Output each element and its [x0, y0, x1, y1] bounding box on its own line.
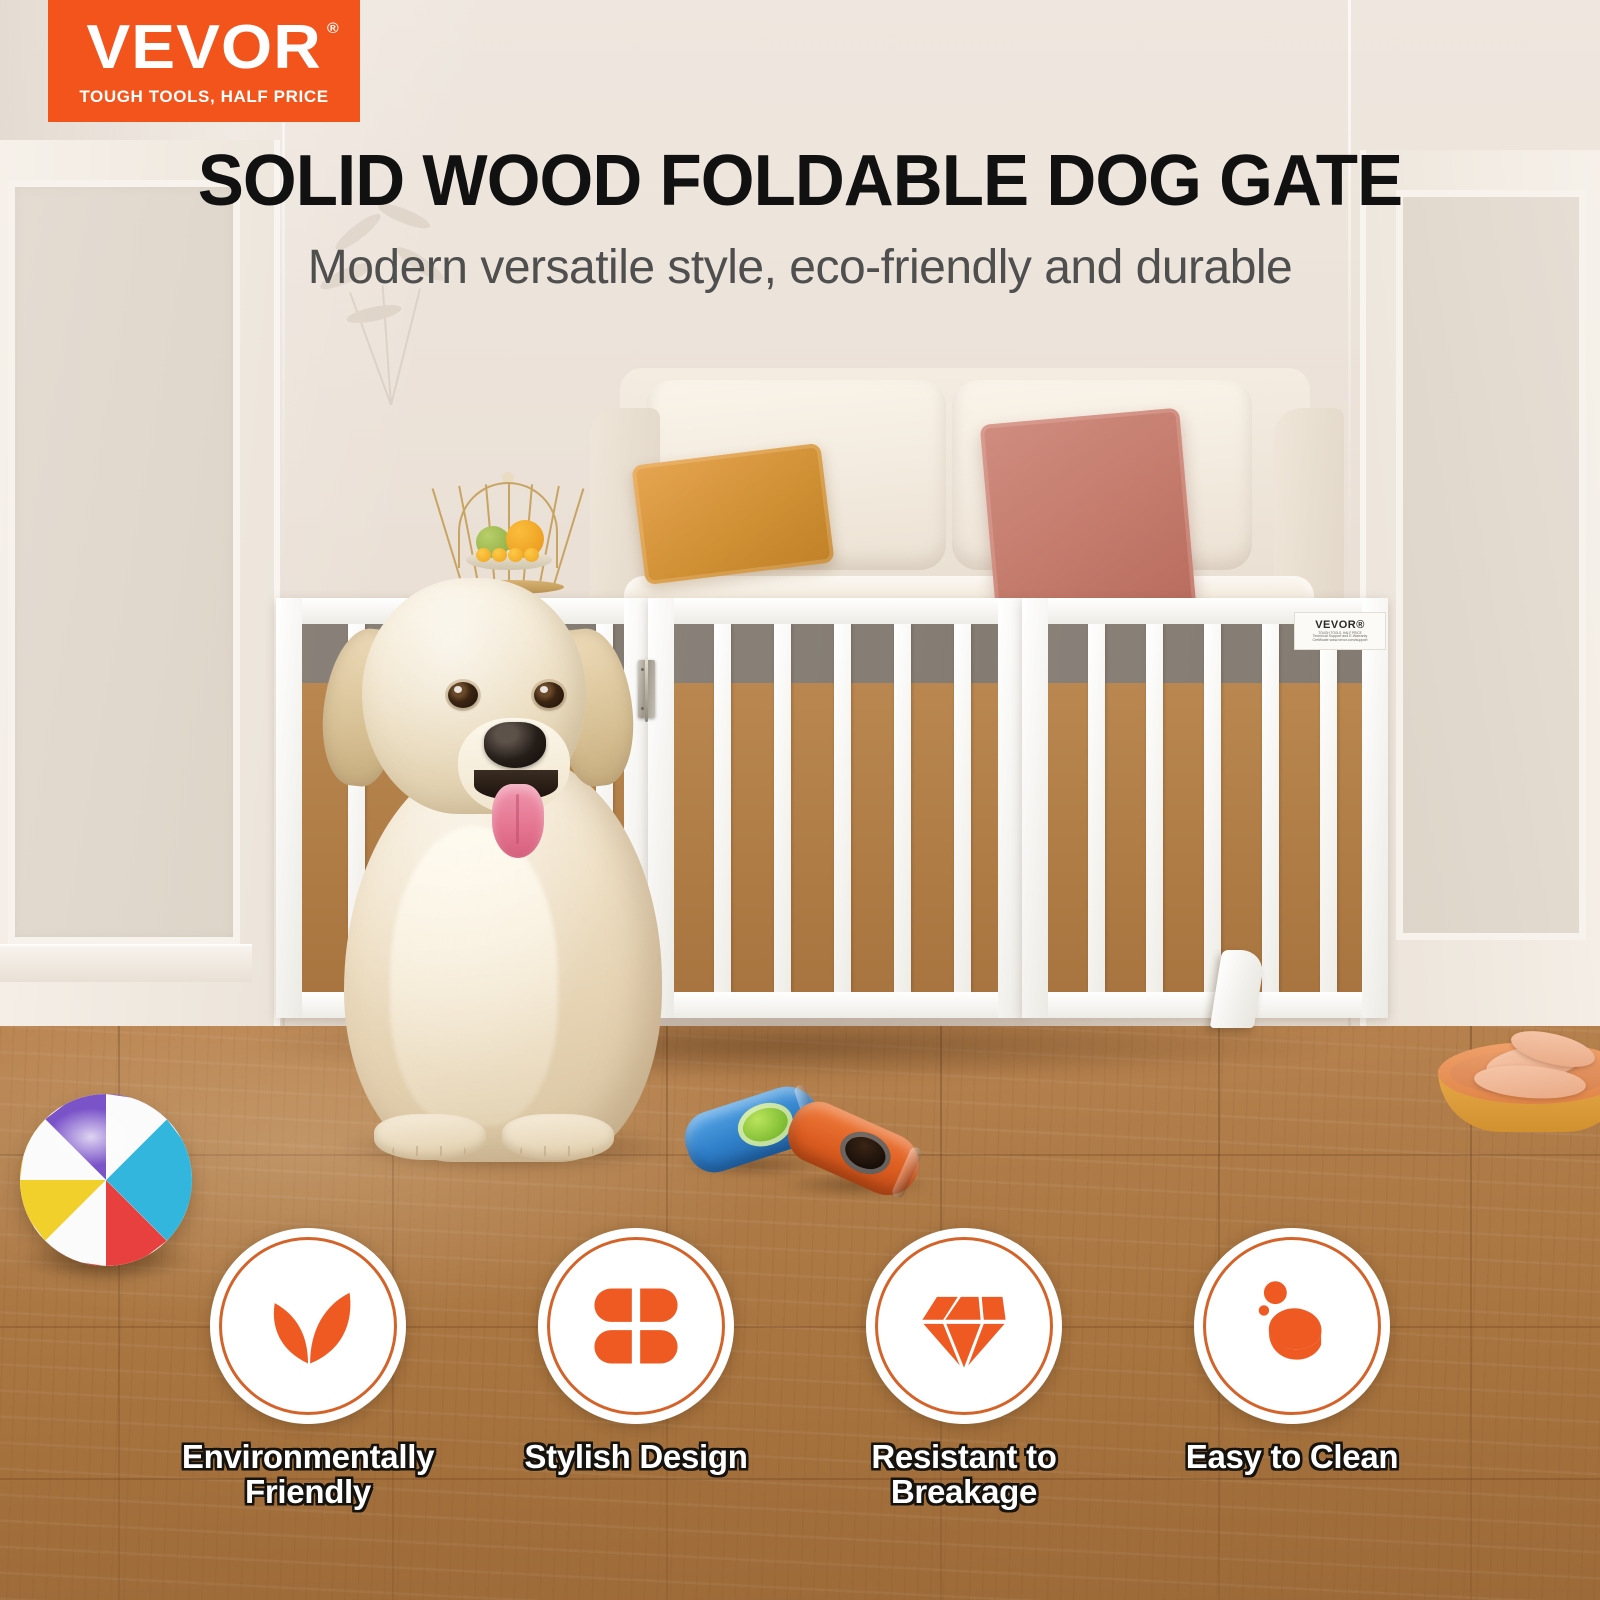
- dog-tongue: [492, 784, 544, 858]
- dog-front-paw: [502, 1114, 614, 1160]
- feature-badge-circle: [538, 1228, 734, 1424]
- kumquat: [492, 548, 507, 562]
- rose-throw-pillow: [980, 408, 1197, 625]
- feature-label: Stylish Design: [524, 1440, 747, 1475]
- dog-nose: [484, 722, 546, 768]
- diamond-icon: [912, 1274, 1016, 1378]
- gate-panel-opening: [674, 624, 998, 992]
- product-label-sticker: VEVOR® TOUGH TOOLS, HALF PRICE Technical…: [1294, 612, 1386, 650]
- product-banner: VEVOR® TOUGH TOOLS, HALF PRICE Technical…: [0, 0, 1600, 1600]
- brand-wordmark: VEVOR ®: [86, 17, 321, 79]
- gate-panel-opening: [1048, 624, 1362, 992]
- dog-eye-left: [448, 682, 478, 708]
- door-rail: [0, 944, 252, 982]
- kumquat: [508, 548, 523, 562]
- amber-throw-pillow: [631, 443, 834, 585]
- feature-label: Easy to Clean: [1186, 1440, 1399, 1475]
- brand-name: VEVOR: [86, 13, 321, 82]
- dog-head: [362, 578, 586, 814]
- feature-environmentally-friendly[interactable]: Environmentally Friendly: [183, 1228, 433, 1600]
- sticker-line-2: Certificate www.vevor.com/support: [1312, 639, 1367, 643]
- page-title: SOLID WOOD FOLDABLE DOG GATE: [32, 140, 1568, 222]
- feature-badge-circle: [866, 1228, 1062, 1424]
- feature-easy-to-clean[interactable]: Easy to Clean: [1167, 1228, 1417, 1600]
- clover-icon: [584, 1274, 688, 1378]
- golden-retriever-dog: [318, 566, 698, 1166]
- feature-badge-row: Environmentally Friendly Stylish Design: [0, 1228, 1600, 1600]
- plant-silhouette: [300, 195, 480, 405]
- feature-label: Resistant to Breakage: [871, 1440, 1056, 1510]
- kumquat: [476, 548, 491, 562]
- feature-badge-circle: [1194, 1228, 1390, 1424]
- page-subtitle: Modern versatile style, eco-friendly and…: [0, 240, 1600, 295]
- leaf-icon: [256, 1274, 360, 1378]
- brand-tagline: TOUGH TOOLS, HALF PRICE: [79, 88, 328, 105]
- kumquat: [524, 548, 539, 562]
- dog-eye-right: [534, 682, 564, 708]
- feature-badge-circle: [210, 1228, 406, 1424]
- feature-stylish-design[interactable]: Stylish Design: [511, 1228, 761, 1600]
- registered-trademark-icon: ®: [327, 21, 340, 36]
- dog-chest-fur: [390, 826, 558, 1126]
- wall-panel-inset: [1396, 190, 1586, 940]
- treat-bowl: [1438, 1042, 1600, 1150]
- sponge-icon: [1240, 1274, 1344, 1378]
- brand-logo[interactable]: VEVOR ® TOUGH TOOLS, HALF PRICE: [48, 0, 360, 122]
- sticker-brand: VEVOR: [1315, 619, 1356, 631]
- sticker-mark: ®: [1356, 619, 1365, 631]
- dog-front-paw: [374, 1114, 486, 1160]
- gate-panel-right: [1022, 598, 1388, 1018]
- feature-label: Environmentally Friendly: [182, 1440, 434, 1510]
- feature-resistant-to-breakage[interactable]: Resistant to Breakage: [839, 1228, 1089, 1600]
- gate-panel-center: [648, 598, 1024, 1018]
